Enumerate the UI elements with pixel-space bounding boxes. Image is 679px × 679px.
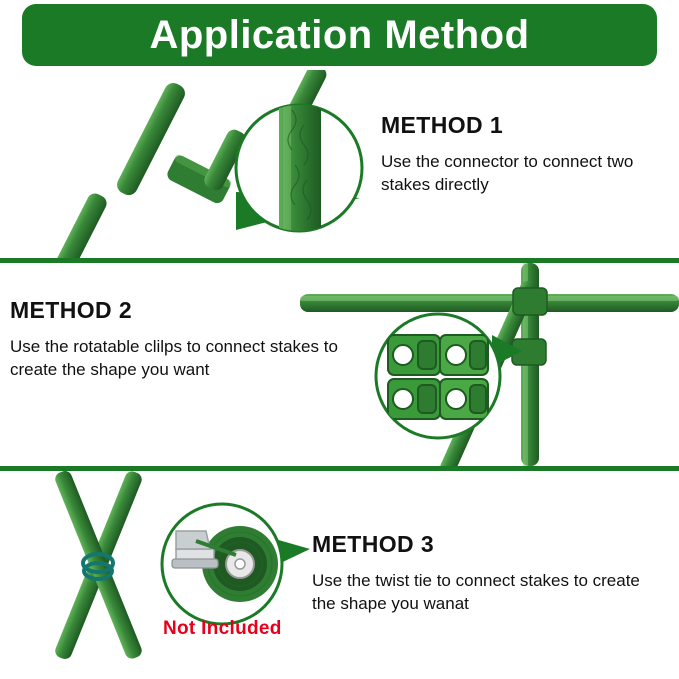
method-1-section: METHOD 1 Use the connector to connect tw…: [0, 70, 679, 258]
method-3-text: METHOD 3 Use the twist tie to connect st…: [312, 531, 668, 616]
method-1-title: METHOD 1: [381, 112, 671, 139]
method-2-text: METHOD 2 Use the rotatable clilps to con…: [10, 297, 355, 382]
method-2-title: METHOD 2: [10, 297, 355, 324]
not-included-note: Not Included: [163, 618, 282, 640]
method-1-description: Use the connector to connect two stakes …: [381, 151, 671, 197]
method-2-section: METHOD 2 Use the rotatable clilps to con…: [0, 263, 679, 466]
header-banner: Application Method: [22, 4, 657, 66]
method-3-description: Use the twist tie to connect stakes to c…: [312, 570, 668, 616]
method-1-text: METHOD 1 Use the connector to connect tw…: [381, 112, 671, 197]
method-3-section: METHOD 3 Use the twist tie to connect st…: [0, 471, 679, 679]
method-2-description: Use the rotatable clilps to connect stak…: [10, 336, 355, 382]
page-title: Application Method: [149, 15, 529, 55]
method-3-title: METHOD 3: [312, 531, 668, 558]
